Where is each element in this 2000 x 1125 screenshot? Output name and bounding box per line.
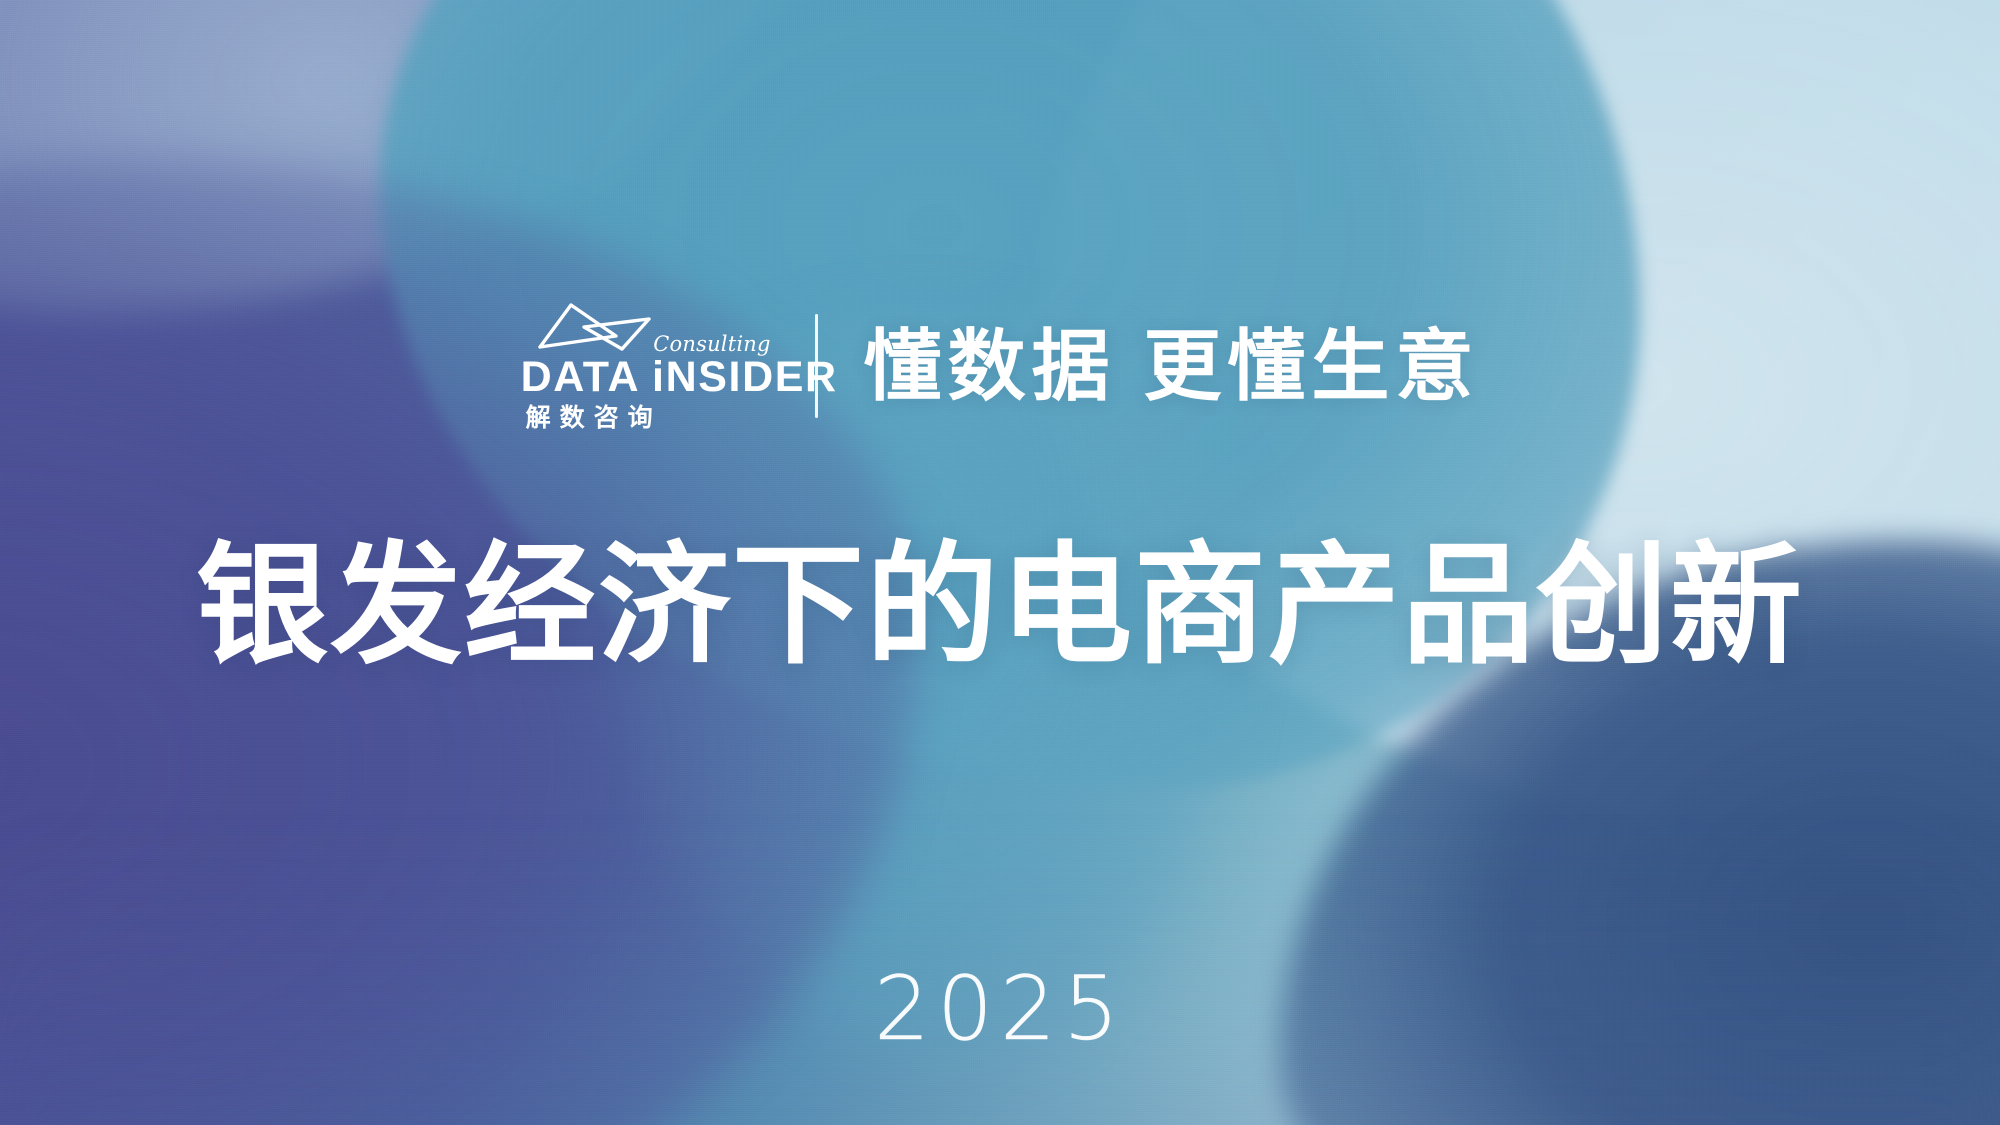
slide-content: Consulting DATA iNSIDER 解数咨询 懂数据 更懂生意 银发… <box>0 0 2000 1125</box>
brand-chinese-name: 解数咨询 <box>526 406 662 431</box>
presentation-cover-slide: Consulting DATA iNSIDER 解数咨询 懂数据 更懂生意 银发… <box>0 0 2000 1125</box>
year-label: 2025 <box>0 965 2000 1053</box>
brand-consulting-script: Consulting <box>653 332 770 356</box>
bowtie-logo-icon <box>534 302 656 359</box>
brand-wordmark: DATA iNSIDER <box>521 356 838 399</box>
page-title: 银发经济下的电商产品创新 <box>0 540 2000 672</box>
brand-logo-block: Consulting DATA iNSIDER 解数咨询 <box>521 300 771 431</box>
header-row: Consulting DATA iNSIDER 解数咨询 懂数据 更懂生意 <box>0 300 2000 431</box>
brand-mark-row: Consulting <box>521 300 771 354</box>
header-vertical-divider <box>815 314 818 418</box>
brand-tagline: 懂数据 更懂生意 <box>864 327 1480 405</box>
